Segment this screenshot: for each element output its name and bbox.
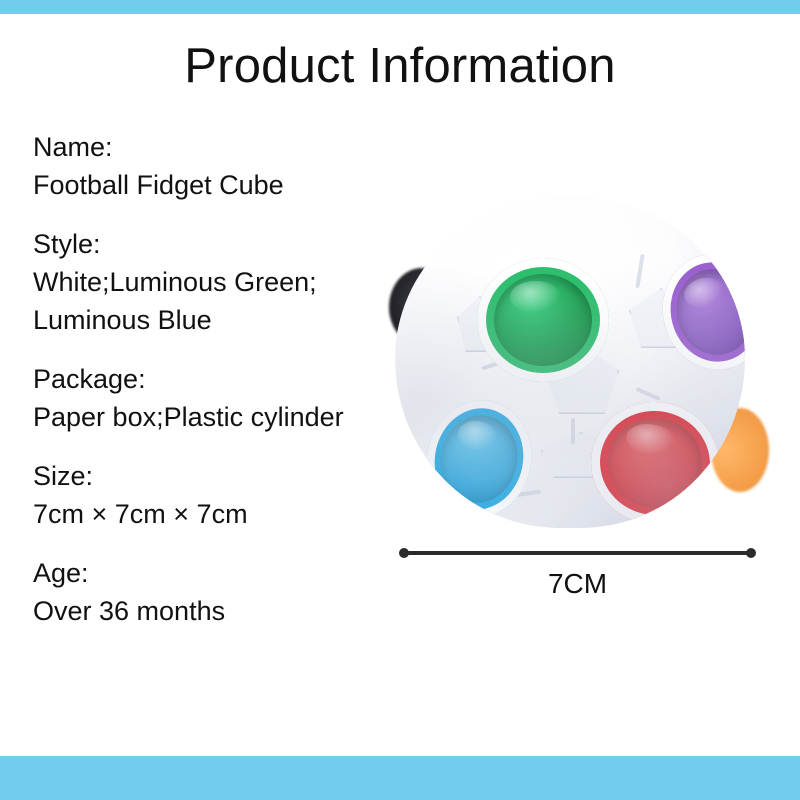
spec-value-age: Over 36 months [33, 592, 393, 630]
seam-line [481, 357, 511, 370]
spec-label-style: Style: [33, 225, 393, 263]
blue-button-ball [432, 408, 525, 509]
bottom-accent-bar [0, 756, 800, 800]
seam-line [635, 387, 660, 401]
green-button-ball [494, 274, 592, 366]
green-button [477, 258, 609, 382]
ball-body [395, 196, 745, 528]
pentagon-panel [629, 288, 693, 348]
seam-line [635, 254, 644, 288]
purple-button [651, 243, 745, 381]
pentagon-panel [457, 296, 503, 352]
spec-value-package: Paper box;Plastic cylinder [33, 398, 393, 436]
fidget-ball-image [395, 196, 745, 528]
purple-button-ball [667, 261, 745, 363]
spec-item-name: Name: Football Fidget Cube [33, 128, 393, 204]
spec-label-name: Name: [33, 128, 393, 166]
spec-value-style-line1: White;Luminous Green; [33, 263, 393, 301]
measurement-endpoint-left [399, 548, 409, 558]
spec-item-age: Age: Over 36 months [33, 554, 393, 630]
spec-value-size: 7cm × 7cm × 7cm [33, 495, 393, 533]
product-information-page: Product Information Name: Football Fidge… [0, 0, 800, 800]
product-photo: 7CM [380, 160, 780, 610]
spec-item-size: Size: 7cm × 7cm × 7cm [33, 457, 393, 533]
measurement-endpoint-right [746, 548, 756, 558]
spec-item-package: Package: Paper box;Plastic cylinder [33, 360, 393, 436]
spec-item-style: Style: White;Luminous Green; Luminous Bl… [33, 225, 393, 339]
red-button [583, 394, 727, 528]
spec-label-size: Size: [33, 457, 393, 495]
spec-label-age: Age: [33, 554, 393, 592]
red-button-ball [602, 412, 708, 515]
measurement-line [403, 551, 752, 555]
pentagon-panel [545, 344, 619, 414]
product-spec-list: Name: Football Fidget Cube Style: White;… [33, 128, 393, 651]
seam-line [571, 418, 575, 444]
spec-value-name: Football Fidget Cube [33, 166, 393, 204]
spec-label-package: Package: [33, 360, 393, 398]
page-title: Product Information [0, 38, 800, 94]
blue-button [416, 390, 542, 527]
spec-value-style-line2: Luminous Blue [33, 301, 393, 339]
measurement-label: 7CM [403, 568, 752, 600]
top-accent-bar [0, 0, 800, 14]
pentagon-panel [541, 432, 621, 478]
seam-line [507, 490, 541, 499]
